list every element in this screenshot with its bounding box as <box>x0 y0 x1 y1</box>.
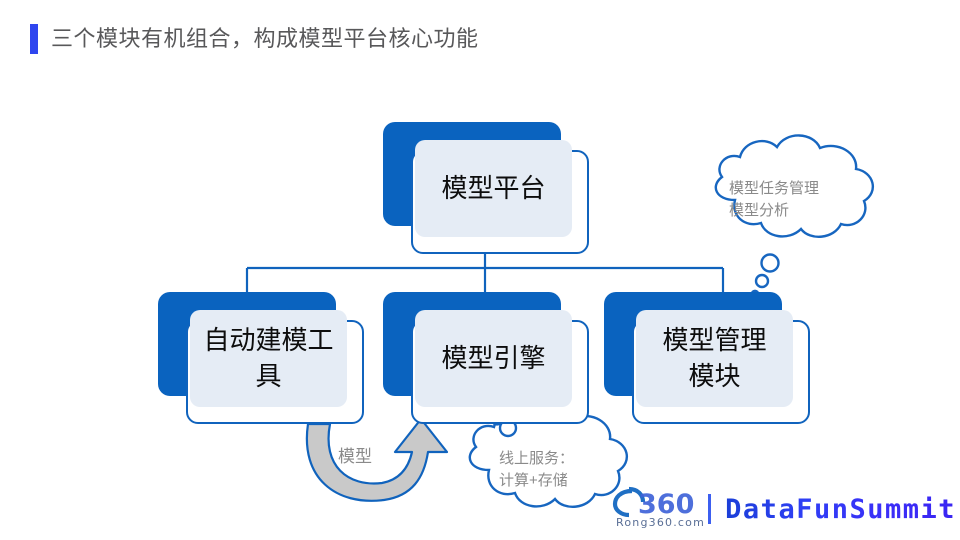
datafunsummit-logo: DataFunSummit <box>725 494 956 525</box>
rong360-url: Rong360.com <box>616 516 705 529</box>
footer-branding: 360 Rong360.com DataFunSummit <box>612 483 956 535</box>
model-flow-arrow <box>307 419 447 501</box>
node-model-management[interactable]: 模型管理 模块 <box>604 292 810 424</box>
org-chart-lines <box>247 252 723 292</box>
node-inner-fill: 模型平台 <box>415 140 572 237</box>
node-model-engine[interactable]: 模型引擎 <box>383 292 589 424</box>
node-label-model-engine: 模型引擎 <box>429 341 559 376</box>
node-label-automodeling-tool: 自动建模工具 <box>194 323 344 393</box>
node-model-platform[interactable]: 模型平台 <box>383 122 589 254</box>
node-label-model-platform: 模型平台 <box>429 171 559 206</box>
node-label-model-management: 模型管理 模块 <box>650 323 780 393</box>
node-automodeling-tool[interactable]: 自动建模工具 <box>158 292 364 424</box>
diagram-connectors <box>0 0 960 540</box>
rong360-logo: 360 Rong360.com <box>612 485 698 533</box>
node-inner-fill: 模型管理 模块 <box>636 310 793 407</box>
callout-text-model-management: 模型任务管理 模型分析 <box>729 178 879 222</box>
node-inner-fill: 自动建模工具 <box>190 310 347 407</box>
arrow-label-model: 模型 <box>338 448 372 465</box>
svg-text:360: 360 <box>638 489 694 519</box>
callout-text-model-engine: 线上服务： 计算+存储 <box>499 448 629 492</box>
node-inner-fill: 模型引擎 <box>415 310 572 407</box>
rong360-mark-icon: 360 <box>612 485 730 519</box>
slide-canvas: 三个模块有机组合，构成模型平台核心功能 <box>0 0 960 540</box>
